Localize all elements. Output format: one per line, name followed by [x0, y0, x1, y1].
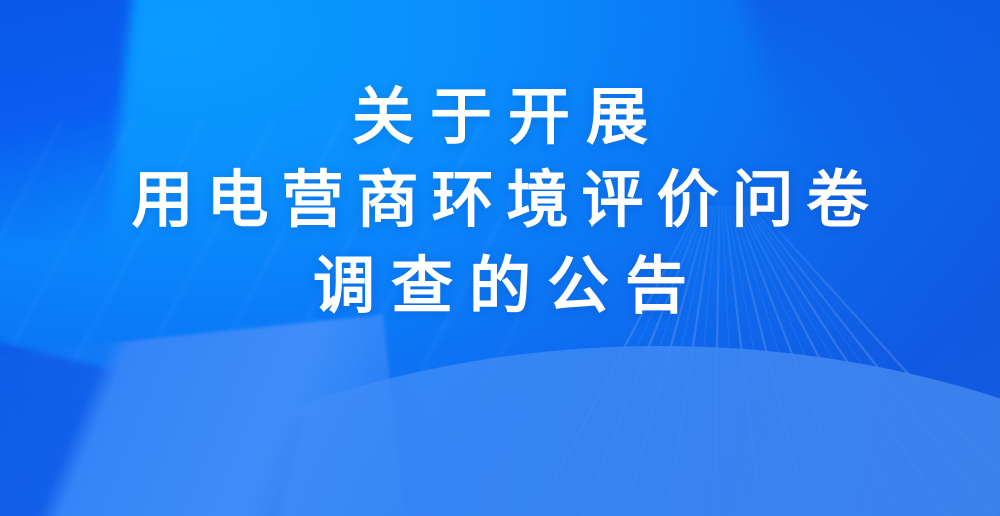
- bottom-wave-arc-decoration: [0, 346, 1000, 516]
- banner-title: 关于开展 用电营商环境评价问卷 调查的公告: [0, 78, 1000, 330]
- title-line-2: 用电营商环境评价问卷: [0, 158, 1000, 244]
- title-line-3: 调查的公告: [0, 244, 1000, 330]
- bottom-left-dark-wedge-shape: [0, 314, 304, 516]
- bottom-left-light-wedge-shape: [0, 314, 415, 516]
- announcement-banner: 关于开展 用电营商环境评价问卷 调查的公告: [0, 0, 1000, 516]
- title-line-1: 关于开展: [0, 78, 1000, 158]
